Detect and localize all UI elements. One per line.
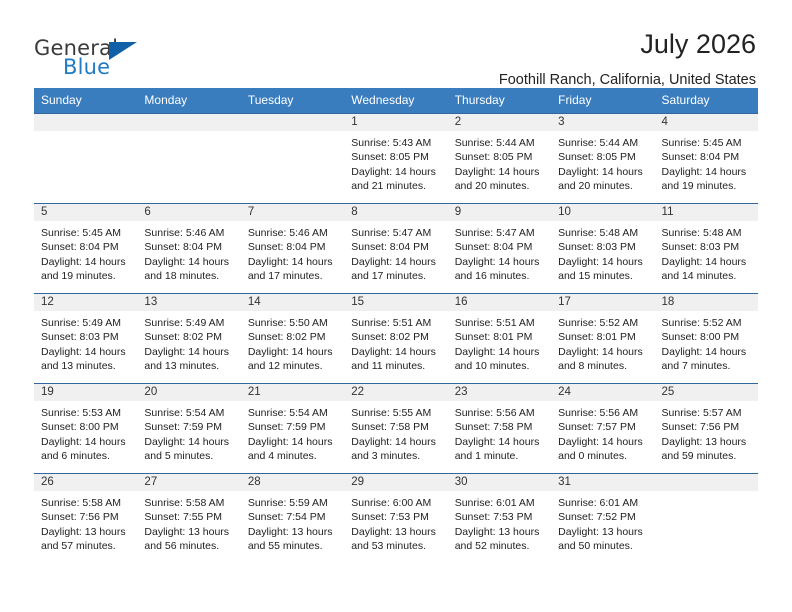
day-number: 22	[344, 384, 447, 401]
day-details: Sunrise: 5:52 AMSunset: 8:01 PMDaylight:…	[551, 311, 654, 374]
calendar-day-cell[interactable]: 16Sunrise: 5:51 AMSunset: 8:01 PMDayligh…	[448, 294, 551, 384]
day-number: 31	[551, 474, 654, 491]
general-blue-logo[interactable]: General Blue	[34, 30, 154, 78]
day-details: Sunrise: 5:51 AMSunset: 8:02 PMDaylight:…	[344, 311, 447, 374]
day-detail-line: Daylight: 14 hours	[248, 435, 338, 449]
day-detail-line: Sunset: 8:01 PM	[455, 330, 545, 344]
day-details: Sunrise: 5:45 AMSunset: 8:04 PMDaylight:…	[655, 131, 758, 194]
day-detail-line: and 20 minutes.	[558, 179, 648, 193]
weekday-header-friday: Friday	[551, 88, 654, 114]
calendar-week-row: 1Sunrise: 5:43 AMSunset: 8:05 PMDaylight…	[34, 114, 758, 204]
day-detail-line: Sunset: 8:00 PM	[41, 420, 131, 434]
logo-text-blue: Blue	[63, 57, 110, 78]
day-detail-line: Sunrise: 5:48 AM	[662, 226, 752, 240]
day-detail-line: Daylight: 14 hours	[41, 345, 131, 359]
calendar-week-row: 5Sunrise: 5:45 AMSunset: 8:04 PMDaylight…	[34, 204, 758, 294]
day-number: 30	[448, 474, 551, 491]
day-detail-line: Sunset: 8:04 PM	[662, 150, 752, 164]
calendar-day-cell[interactable]: 13Sunrise: 5:49 AMSunset: 8:02 PMDayligh…	[137, 294, 240, 384]
day-detail-line: Sunset: 7:57 PM	[558, 420, 648, 434]
day-detail-line: Sunrise: 5:45 AM	[41, 226, 131, 240]
calendar-day-cell[interactable]: 19Sunrise: 5:53 AMSunset: 8:00 PMDayligh…	[34, 384, 137, 474]
day-number: 7	[241, 204, 344, 221]
day-details: Sunrise: 5:47 AMSunset: 8:04 PMDaylight:…	[344, 221, 447, 284]
calendar-day-cell[interactable]: 11Sunrise: 5:48 AMSunset: 8:03 PMDayligh…	[655, 204, 758, 294]
day-detail-line: Sunrise: 5:54 AM	[144, 406, 234, 420]
day-detail-line: and 1 minute.	[455, 449, 545, 463]
calendar-week-row: 19Sunrise: 5:53 AMSunset: 8:00 PMDayligh…	[34, 384, 758, 474]
day-detail-line: Daylight: 14 hours	[144, 435, 234, 449]
calendar-day-cell[interactable]: 28Sunrise: 5:59 AMSunset: 7:54 PMDayligh…	[241, 474, 344, 564]
calendar-cell-empty	[655, 474, 758, 564]
day-details: Sunrise: 6:01 AMSunset: 7:53 PMDaylight:…	[448, 491, 551, 554]
day-detail-line: and 10 minutes.	[455, 359, 545, 373]
day-detail-line: Sunrise: 5:47 AM	[455, 226, 545, 240]
day-detail-line: and 20 minutes.	[455, 179, 545, 193]
day-detail-line: Sunset: 8:02 PM	[351, 330, 441, 344]
calendar-cell-empty	[241, 114, 344, 204]
day-detail-line: Sunset: 8:04 PM	[455, 240, 545, 254]
day-detail-line: and 4 minutes.	[248, 449, 338, 463]
day-detail-line: Daylight: 14 hours	[351, 165, 441, 179]
day-detail-line: Sunset: 7:53 PM	[351, 510, 441, 524]
day-detail-line: and 0 minutes.	[558, 449, 648, 463]
calendar-day-cell[interactable]: 23Sunrise: 5:56 AMSunset: 7:58 PMDayligh…	[448, 384, 551, 474]
calendar-cell-empty	[137, 114, 240, 204]
day-number: 8	[344, 204, 447, 221]
calendar-day-cell[interactable]: 17Sunrise: 5:52 AMSunset: 8:01 PMDayligh…	[551, 294, 654, 384]
day-detail-line: and 53 minutes.	[351, 539, 441, 553]
day-detail-line: and 8 minutes.	[558, 359, 648, 373]
day-details: Sunrise: 5:50 AMSunset: 8:02 PMDaylight:…	[241, 311, 344, 374]
day-detail-line: Sunset: 8:04 PM	[41, 240, 131, 254]
day-detail-line: Sunset: 8:01 PM	[558, 330, 648, 344]
day-number: 15	[344, 294, 447, 311]
day-detail-line: and 57 minutes.	[41, 539, 131, 553]
calendar-page: General Blue July 2026 Foothill Ranch, C…	[0, 0, 792, 612]
day-detail-line: Daylight: 13 hours	[41, 525, 131, 539]
day-detail-line: Sunrise: 5:44 AM	[558, 136, 648, 150]
calendar-day-cell[interactable]: 1Sunrise: 5:43 AMSunset: 8:05 PMDaylight…	[344, 114, 447, 204]
day-details: Sunrise: 5:55 AMSunset: 7:58 PMDaylight:…	[344, 401, 447, 464]
day-detail-line: Sunrise: 5:58 AM	[144, 496, 234, 510]
day-detail-line: and 15 minutes.	[558, 269, 648, 283]
day-detail-line: Daylight: 14 hours	[144, 345, 234, 359]
day-detail-line: Daylight: 14 hours	[248, 255, 338, 269]
calendar-day-cell[interactable]: 9Sunrise: 5:47 AMSunset: 8:04 PMDaylight…	[448, 204, 551, 294]
calendar-day-cell[interactable]: 14Sunrise: 5:50 AMSunset: 8:02 PMDayligh…	[241, 294, 344, 384]
day-detail-line: Sunset: 8:00 PM	[662, 330, 752, 344]
day-detail-line: and 16 minutes.	[455, 269, 545, 283]
day-detail-line: Sunset: 7:58 PM	[351, 420, 441, 434]
day-detail-line: and 19 minutes.	[41, 269, 131, 283]
day-detail-line: Daylight: 14 hours	[41, 255, 131, 269]
calendar-day-cell[interactable]: 26Sunrise: 5:58 AMSunset: 7:56 PMDayligh…	[34, 474, 137, 564]
day-detail-line: Daylight: 14 hours	[455, 345, 545, 359]
day-number: 23	[448, 384, 551, 401]
day-detail-line: Sunrise: 5:58 AM	[41, 496, 131, 510]
day-details: Sunrise: 5:43 AMSunset: 8:05 PMDaylight:…	[344, 131, 447, 194]
day-detail-line: Daylight: 14 hours	[662, 255, 752, 269]
day-detail-line: Daylight: 13 hours	[662, 435, 752, 449]
day-detail-line: Daylight: 14 hours	[558, 165, 648, 179]
day-detail-line: Sunset: 8:02 PM	[144, 330, 234, 344]
day-detail-line: Daylight: 14 hours	[662, 345, 752, 359]
location-subtitle: Foothill Ranch, California, United State…	[499, 72, 756, 88]
triangle-icon	[109, 42, 137, 60]
day-detail-line: Sunrise: 5:51 AM	[455, 316, 545, 330]
day-detail-line: and 55 minutes.	[248, 539, 338, 553]
day-detail-line: Daylight: 14 hours	[662, 165, 752, 179]
day-detail-line: Sunrise: 5:56 AM	[455, 406, 545, 420]
day-detail-line: Daylight: 13 hours	[351, 525, 441, 539]
calendar-day-cell[interactable]: 5Sunrise: 5:45 AMSunset: 8:04 PMDaylight…	[34, 204, 137, 294]
calendar-day-cell[interactable]: 12Sunrise: 5:49 AMSunset: 8:03 PMDayligh…	[34, 294, 137, 384]
day-details: Sunrise: 5:45 AMSunset: 8:04 PMDaylight:…	[34, 221, 137, 284]
day-detail-line: Daylight: 14 hours	[351, 345, 441, 359]
day-detail-line: Sunrise: 5:43 AM	[351, 136, 441, 150]
day-number	[34, 114, 137, 131]
day-detail-line: and 19 minutes.	[662, 179, 752, 193]
day-details: Sunrise: 5:49 AMSunset: 8:03 PMDaylight:…	[34, 311, 137, 374]
day-number: 11	[655, 204, 758, 221]
sunrise-sunset-calendar: Sunday Monday Tuesday Wednesday Thursday…	[34, 88, 758, 564]
day-detail-line: Sunset: 7:59 PM	[144, 420, 234, 434]
day-number	[137, 114, 240, 131]
calendar-day-cell[interactable]: 4Sunrise: 5:45 AMSunset: 8:04 PMDaylight…	[655, 114, 758, 204]
calendar-day-cell[interactable]: 8Sunrise: 5:47 AMSunset: 8:04 PMDaylight…	[344, 204, 447, 294]
day-detail-line: and 17 minutes.	[351, 269, 441, 283]
day-detail-line: Daylight: 14 hours	[41, 435, 131, 449]
day-detail-line: Sunset: 8:04 PM	[144, 240, 234, 254]
day-number: 2	[448, 114, 551, 131]
day-detail-line: and 52 minutes.	[455, 539, 545, 553]
day-number: 12	[34, 294, 137, 311]
day-details: Sunrise: 5:54 AMSunset: 7:59 PMDaylight:…	[137, 401, 240, 464]
day-number: 26	[34, 474, 137, 491]
day-details: Sunrise: 5:59 AMSunset: 7:54 PMDaylight:…	[241, 491, 344, 554]
day-number: 17	[551, 294, 654, 311]
day-detail-line: Sunset: 7:55 PM	[144, 510, 234, 524]
day-detail-line: Sunset: 8:05 PM	[351, 150, 441, 164]
day-detail-line: Sunrise: 5:55 AM	[351, 406, 441, 420]
day-number: 1	[344, 114, 447, 131]
day-detail-line: Sunset: 7:56 PM	[41, 510, 131, 524]
day-details: Sunrise: 5:53 AMSunset: 8:00 PMDaylight:…	[34, 401, 137, 464]
day-detail-line: and 17 minutes.	[248, 269, 338, 283]
day-detail-line: Sunrise: 5:49 AM	[41, 316, 131, 330]
day-detail-line: Daylight: 14 hours	[248, 345, 338, 359]
day-details: Sunrise: 5:49 AMSunset: 8:02 PMDaylight:…	[137, 311, 240, 374]
weekday-header-row: Sunday Monday Tuesday Wednesday Thursday…	[34, 88, 758, 114]
calendar-day-cell[interactable]: 25Sunrise: 5:57 AMSunset: 7:56 PMDayligh…	[655, 384, 758, 474]
day-number: 21	[241, 384, 344, 401]
weekday-header-thursday: Thursday	[448, 88, 551, 114]
day-details: Sunrise: 5:47 AMSunset: 8:04 PMDaylight:…	[448, 221, 551, 284]
calendar-day-cell[interactable]: 3Sunrise: 5:44 AMSunset: 8:05 PMDaylight…	[551, 114, 654, 204]
day-detail-line: and 50 minutes.	[558, 539, 648, 553]
day-details: Sunrise: 5:54 AMSunset: 7:59 PMDaylight:…	[241, 401, 344, 464]
day-detail-line: and 18 minutes.	[144, 269, 234, 283]
weekday-header-saturday: Saturday	[655, 88, 758, 114]
day-number: 5	[34, 204, 137, 221]
day-details: Sunrise: 5:58 AMSunset: 7:56 PMDaylight:…	[34, 491, 137, 554]
day-details: Sunrise: 5:58 AMSunset: 7:55 PMDaylight:…	[137, 491, 240, 554]
weekday-header-monday: Monday	[137, 88, 240, 114]
day-number: 10	[551, 204, 654, 221]
day-detail-line: Sunset: 7:56 PM	[662, 420, 752, 434]
day-detail-line: Sunrise: 5:57 AM	[662, 406, 752, 420]
day-detail-line: Sunrise: 5:49 AM	[144, 316, 234, 330]
day-details: Sunrise: 5:57 AMSunset: 7:56 PMDaylight:…	[655, 401, 758, 464]
day-detail-line: Sunrise: 6:01 AM	[558, 496, 648, 510]
day-details: Sunrise: 5:48 AMSunset: 8:03 PMDaylight:…	[655, 221, 758, 284]
day-details: Sunrise: 5:48 AMSunset: 8:03 PMDaylight:…	[551, 221, 654, 284]
day-details: Sunrise: 5:46 AMSunset: 8:04 PMDaylight:…	[137, 221, 240, 284]
day-detail-line: Sunset: 8:03 PM	[41, 330, 131, 344]
day-number: 28	[241, 474, 344, 491]
day-detail-line: Daylight: 14 hours	[558, 345, 648, 359]
day-detail-line: Sunset: 8:04 PM	[351, 240, 441, 254]
day-detail-line: Daylight: 13 hours	[144, 525, 234, 539]
day-details: Sunrise: 5:46 AMSunset: 8:04 PMDaylight:…	[241, 221, 344, 284]
day-detail-line: Daylight: 14 hours	[455, 165, 545, 179]
day-detail-line: Sunset: 7:59 PM	[248, 420, 338, 434]
calendar-day-cell[interactable]: 15Sunrise: 5:51 AMSunset: 8:02 PMDayligh…	[344, 294, 447, 384]
day-detail-line: Daylight: 14 hours	[558, 255, 648, 269]
day-number: 29	[344, 474, 447, 491]
calendar-day-cell[interactable]: 18Sunrise: 5:52 AMSunset: 8:00 PMDayligh…	[655, 294, 758, 384]
day-details: Sunrise: 6:01 AMSunset: 7:52 PMDaylight:…	[551, 491, 654, 554]
day-details: Sunrise: 5:52 AMSunset: 8:00 PMDaylight:…	[655, 311, 758, 374]
day-detail-line: Sunrise: 5:52 AM	[558, 316, 648, 330]
calendar-day-cell[interactable]: 2Sunrise: 5:44 AMSunset: 8:05 PMDaylight…	[448, 114, 551, 204]
day-number: 9	[448, 204, 551, 221]
day-detail-line: Sunrise: 5:53 AM	[41, 406, 131, 420]
day-detail-line: Daylight: 14 hours	[351, 255, 441, 269]
day-detail-line: Daylight: 13 hours	[455, 525, 545, 539]
day-detail-line: Daylight: 14 hours	[144, 255, 234, 269]
calendar-week-row: 26Sunrise: 5:58 AMSunset: 7:56 PMDayligh…	[34, 474, 758, 564]
calendar-day-cell[interactable]: 21Sunrise: 5:54 AMSunset: 7:59 PMDayligh…	[241, 384, 344, 474]
calendar-day-cell[interactable]: 7Sunrise: 5:46 AMSunset: 8:04 PMDaylight…	[241, 204, 344, 294]
day-detail-line: Sunset: 8:03 PM	[662, 240, 752, 254]
day-detail-line: and 56 minutes.	[144, 539, 234, 553]
day-detail-line: Sunrise: 5:54 AM	[248, 406, 338, 420]
day-number: 19	[34, 384, 137, 401]
day-detail-line: Sunset: 8:02 PM	[248, 330, 338, 344]
day-detail-line: Daylight: 14 hours	[455, 255, 545, 269]
day-detail-line: Sunset: 7:52 PM	[558, 510, 648, 524]
day-detail-line: Sunrise: 5:44 AM	[455, 136, 545, 150]
day-detail-line: and 59 minutes.	[662, 449, 752, 463]
day-detail-line: Sunset: 7:54 PM	[248, 510, 338, 524]
day-detail-line: Sunrise: 6:01 AM	[455, 496, 545, 510]
day-detail-line: Sunset: 7:53 PM	[455, 510, 545, 524]
calendar-day-cell[interactable]: 27Sunrise: 5:58 AMSunset: 7:55 PMDayligh…	[137, 474, 240, 564]
day-number: 20	[137, 384, 240, 401]
calendar-day-cell[interactable]: 24Sunrise: 5:56 AMSunset: 7:57 PMDayligh…	[551, 384, 654, 474]
day-detail-line: Sunrise: 5:59 AM	[248, 496, 338, 510]
day-detail-line: Sunrise: 5:50 AM	[248, 316, 338, 330]
day-number: 25	[655, 384, 758, 401]
calendar-week-row: 12Sunrise: 5:49 AMSunset: 8:03 PMDayligh…	[34, 294, 758, 384]
day-details: Sunrise: 5:56 AMSunset: 7:58 PMDaylight:…	[448, 401, 551, 464]
day-detail-line: Sunset: 8:03 PM	[558, 240, 648, 254]
calendar-day-cell[interactable]: 22Sunrise: 5:55 AMSunset: 7:58 PMDayligh…	[344, 384, 447, 474]
day-detail-line: and 5 minutes.	[144, 449, 234, 463]
day-number: 27	[137, 474, 240, 491]
day-detail-line: Daylight: 14 hours	[455, 435, 545, 449]
calendar-day-cell[interactable]: 10Sunrise: 5:48 AMSunset: 8:03 PMDayligh…	[551, 204, 654, 294]
day-detail-line: and 14 minutes.	[662, 269, 752, 283]
day-detail-line: Daylight: 13 hours	[558, 525, 648, 539]
page-title: July 2026	[499, 30, 756, 60]
day-detail-line: and 3 minutes.	[351, 449, 441, 463]
day-details: Sunrise: 5:44 AMSunset: 8:05 PMDaylight:…	[448, 131, 551, 194]
calendar-day-cell[interactable]: 30Sunrise: 6:01 AMSunset: 7:53 PMDayligh…	[448, 474, 551, 564]
day-detail-line: Sunrise: 6:00 AM	[351, 496, 441, 510]
day-detail-line: Sunrise: 5:56 AM	[558, 406, 648, 420]
day-number: 6	[137, 204, 240, 221]
day-detail-line: Sunrise: 5:48 AM	[558, 226, 648, 240]
calendar-day-cell[interactable]: 29Sunrise: 6:00 AMSunset: 7:53 PMDayligh…	[344, 474, 447, 564]
day-number	[241, 114, 344, 131]
calendar-day-cell[interactable]: 20Sunrise: 5:54 AMSunset: 7:59 PMDayligh…	[137, 384, 240, 474]
weekday-header-sunday: Sunday	[34, 88, 137, 114]
day-details: Sunrise: 5:44 AMSunset: 8:05 PMDaylight:…	[551, 131, 654, 194]
calendar-cell-empty	[34, 114, 137, 204]
calendar-day-cell[interactable]: 31Sunrise: 6:01 AMSunset: 7:52 PMDayligh…	[551, 474, 654, 564]
weekday-header-wednesday: Wednesday	[344, 88, 447, 114]
day-number: 16	[448, 294, 551, 311]
day-detail-line: Daylight: 13 hours	[248, 525, 338, 539]
title-block: July 2026 Foothill Ranch, California, Un…	[499, 30, 756, 88]
day-detail-line: and 13 minutes.	[41, 359, 131, 373]
day-details: Sunrise: 5:56 AMSunset: 7:57 PMDaylight:…	[551, 401, 654, 464]
day-detail-line: Sunset: 7:58 PM	[455, 420, 545, 434]
day-number	[655, 474, 758, 491]
day-detail-line: and 11 minutes.	[351, 359, 441, 373]
day-detail-line: Sunrise: 5:47 AM	[351, 226, 441, 240]
day-details: Sunrise: 5:51 AMSunset: 8:01 PMDaylight:…	[448, 311, 551, 374]
day-detail-line: Sunset: 8:05 PM	[558, 150, 648, 164]
day-number: 24	[551, 384, 654, 401]
day-detail-line: and 13 minutes.	[144, 359, 234, 373]
day-detail-line: and 21 minutes.	[351, 179, 441, 193]
day-detail-line: and 12 minutes.	[248, 359, 338, 373]
calendar-day-cell[interactable]: 6Sunrise: 5:46 AMSunset: 8:04 PMDaylight…	[137, 204, 240, 294]
page-header: General Blue July 2026 Foothill Ranch, C…	[0, 0, 792, 74]
day-detail-line: Sunset: 8:05 PM	[455, 150, 545, 164]
day-detail-line: Daylight: 14 hours	[351, 435, 441, 449]
day-detail-line: Sunrise: 5:45 AM	[662, 136, 752, 150]
day-detail-line: Sunset: 8:04 PM	[248, 240, 338, 254]
day-detail-line: and 7 minutes.	[662, 359, 752, 373]
weekday-header-tuesday: Tuesday	[241, 88, 344, 114]
day-number: 4	[655, 114, 758, 131]
day-detail-line: Sunrise: 5:46 AM	[248, 226, 338, 240]
day-number: 3	[551, 114, 654, 131]
day-detail-line: Sunrise: 5:51 AM	[351, 316, 441, 330]
day-detail-line: and 6 minutes.	[41, 449, 131, 463]
day-detail-line: Sunrise: 5:46 AM	[144, 226, 234, 240]
day-detail-line: Daylight: 14 hours	[558, 435, 648, 449]
day-details: Sunrise: 6:00 AMSunset: 7:53 PMDaylight:…	[344, 491, 447, 554]
day-number: 18	[655, 294, 758, 311]
day-detail-line: Sunrise: 5:52 AM	[662, 316, 752, 330]
day-number: 13	[137, 294, 240, 311]
day-number: 14	[241, 294, 344, 311]
calendar-body: 1Sunrise: 5:43 AMSunset: 8:05 PMDaylight…	[34, 114, 758, 564]
